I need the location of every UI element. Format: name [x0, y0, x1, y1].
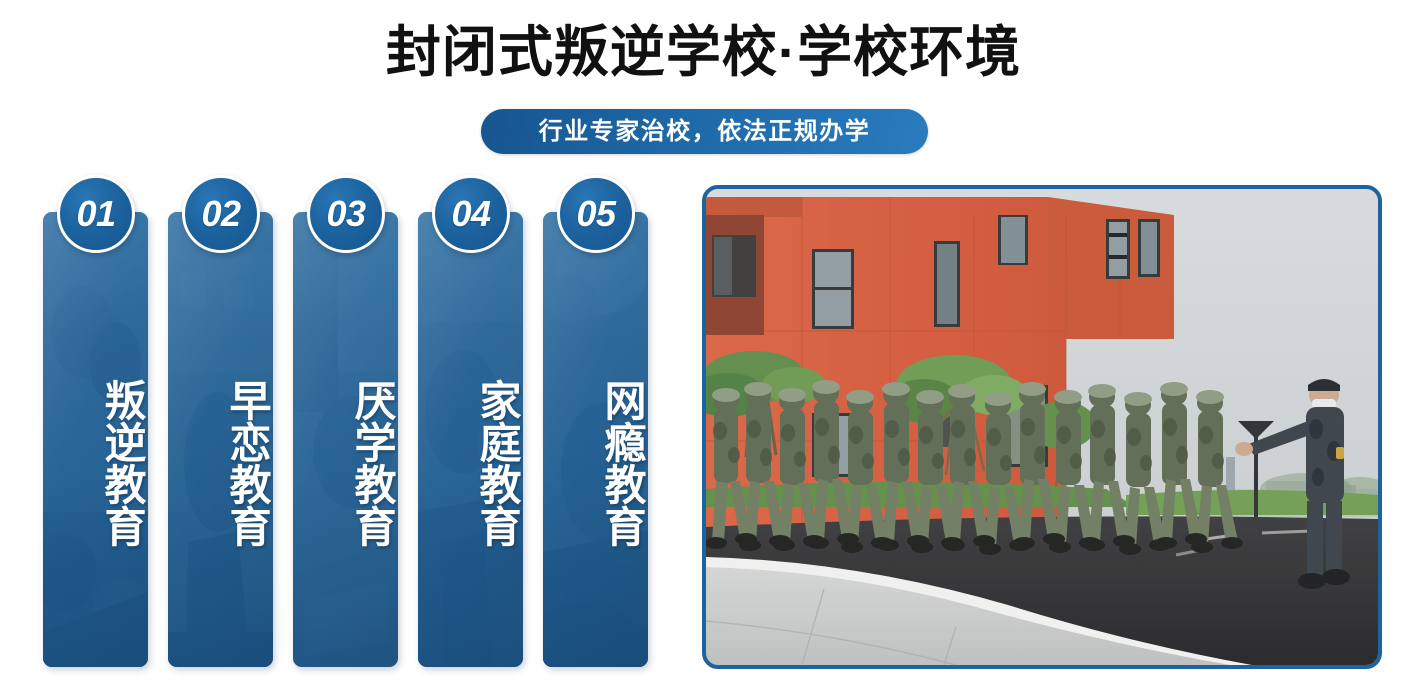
category-card-number-3: 03	[326, 196, 365, 232]
category-card-1[interactable]: 叛逆教育	[43, 212, 148, 667]
category-card-4[interactable]: 家庭教育	[418, 212, 523, 667]
category-card-label-4: 家庭教育	[418, 355, 523, 570]
category-card-badge-1: 01	[57, 175, 135, 253]
page-title: 封闭式叛逆学校·学校环境	[0, 18, 1407, 86]
category-card-badge-2: 02	[182, 175, 260, 253]
category-card-number-1: 01	[76, 196, 115, 232]
subtitle-badge: 行业专家治校，依法正规办学	[481, 109, 928, 154]
category-card-badge-3: 03	[307, 175, 385, 253]
category-card-number-2: 02	[201, 196, 240, 232]
category-card-label-1: 叛逆教育	[43, 355, 148, 570]
category-card-5[interactable]: 网瘾教育	[543, 212, 648, 667]
category-card-3[interactable]: 厌学教育	[293, 212, 398, 667]
category-card-badge-5: 05	[557, 175, 635, 253]
category-card-number-5: 05	[576, 196, 615, 232]
category-card-label-2: 早恋教育	[168, 355, 273, 570]
campus-photo	[702, 185, 1382, 669]
category-card-label-3: 厌学教育	[293, 355, 398, 570]
category-card-badge-4: 04	[432, 175, 510, 253]
category-card-label-5: 网瘾教育	[543, 355, 648, 570]
category-card-2[interactable]: 早恋教育	[168, 212, 273, 667]
category-card-number-4: 04	[451, 196, 490, 232]
category-card-list: 叛逆教育 01 早恋教育 02	[43, 175, 678, 670]
subtitle-badge-label: 行业专家治校，依法正规办学	[539, 109, 871, 154]
